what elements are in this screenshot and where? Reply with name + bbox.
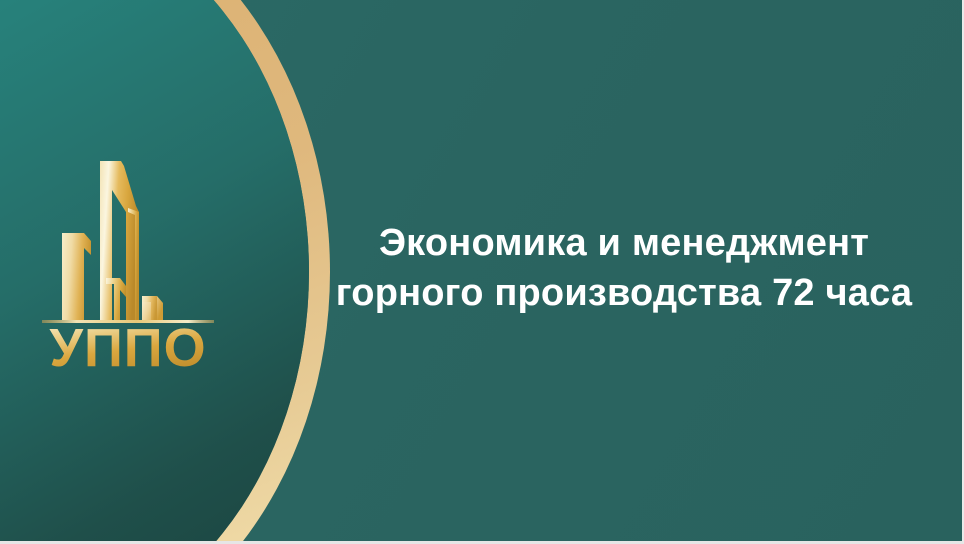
title-slide: УППО Экономика и менеджмент горного прои…	[0, 0, 964, 544]
slide-title: Экономика и менеджмент горного производс…	[300, 218, 948, 318]
title-line-2: горного производства 72 часа	[300, 268, 948, 318]
uppo-logo: УППО	[38, 150, 226, 375]
logo-acronym: УППО	[49, 318, 206, 375]
title-line-1: Экономика и менеджмент	[300, 218, 948, 268]
buildings-skyline-icon: УППО	[38, 150, 226, 375]
logo-building-left	[62, 233, 91, 320]
